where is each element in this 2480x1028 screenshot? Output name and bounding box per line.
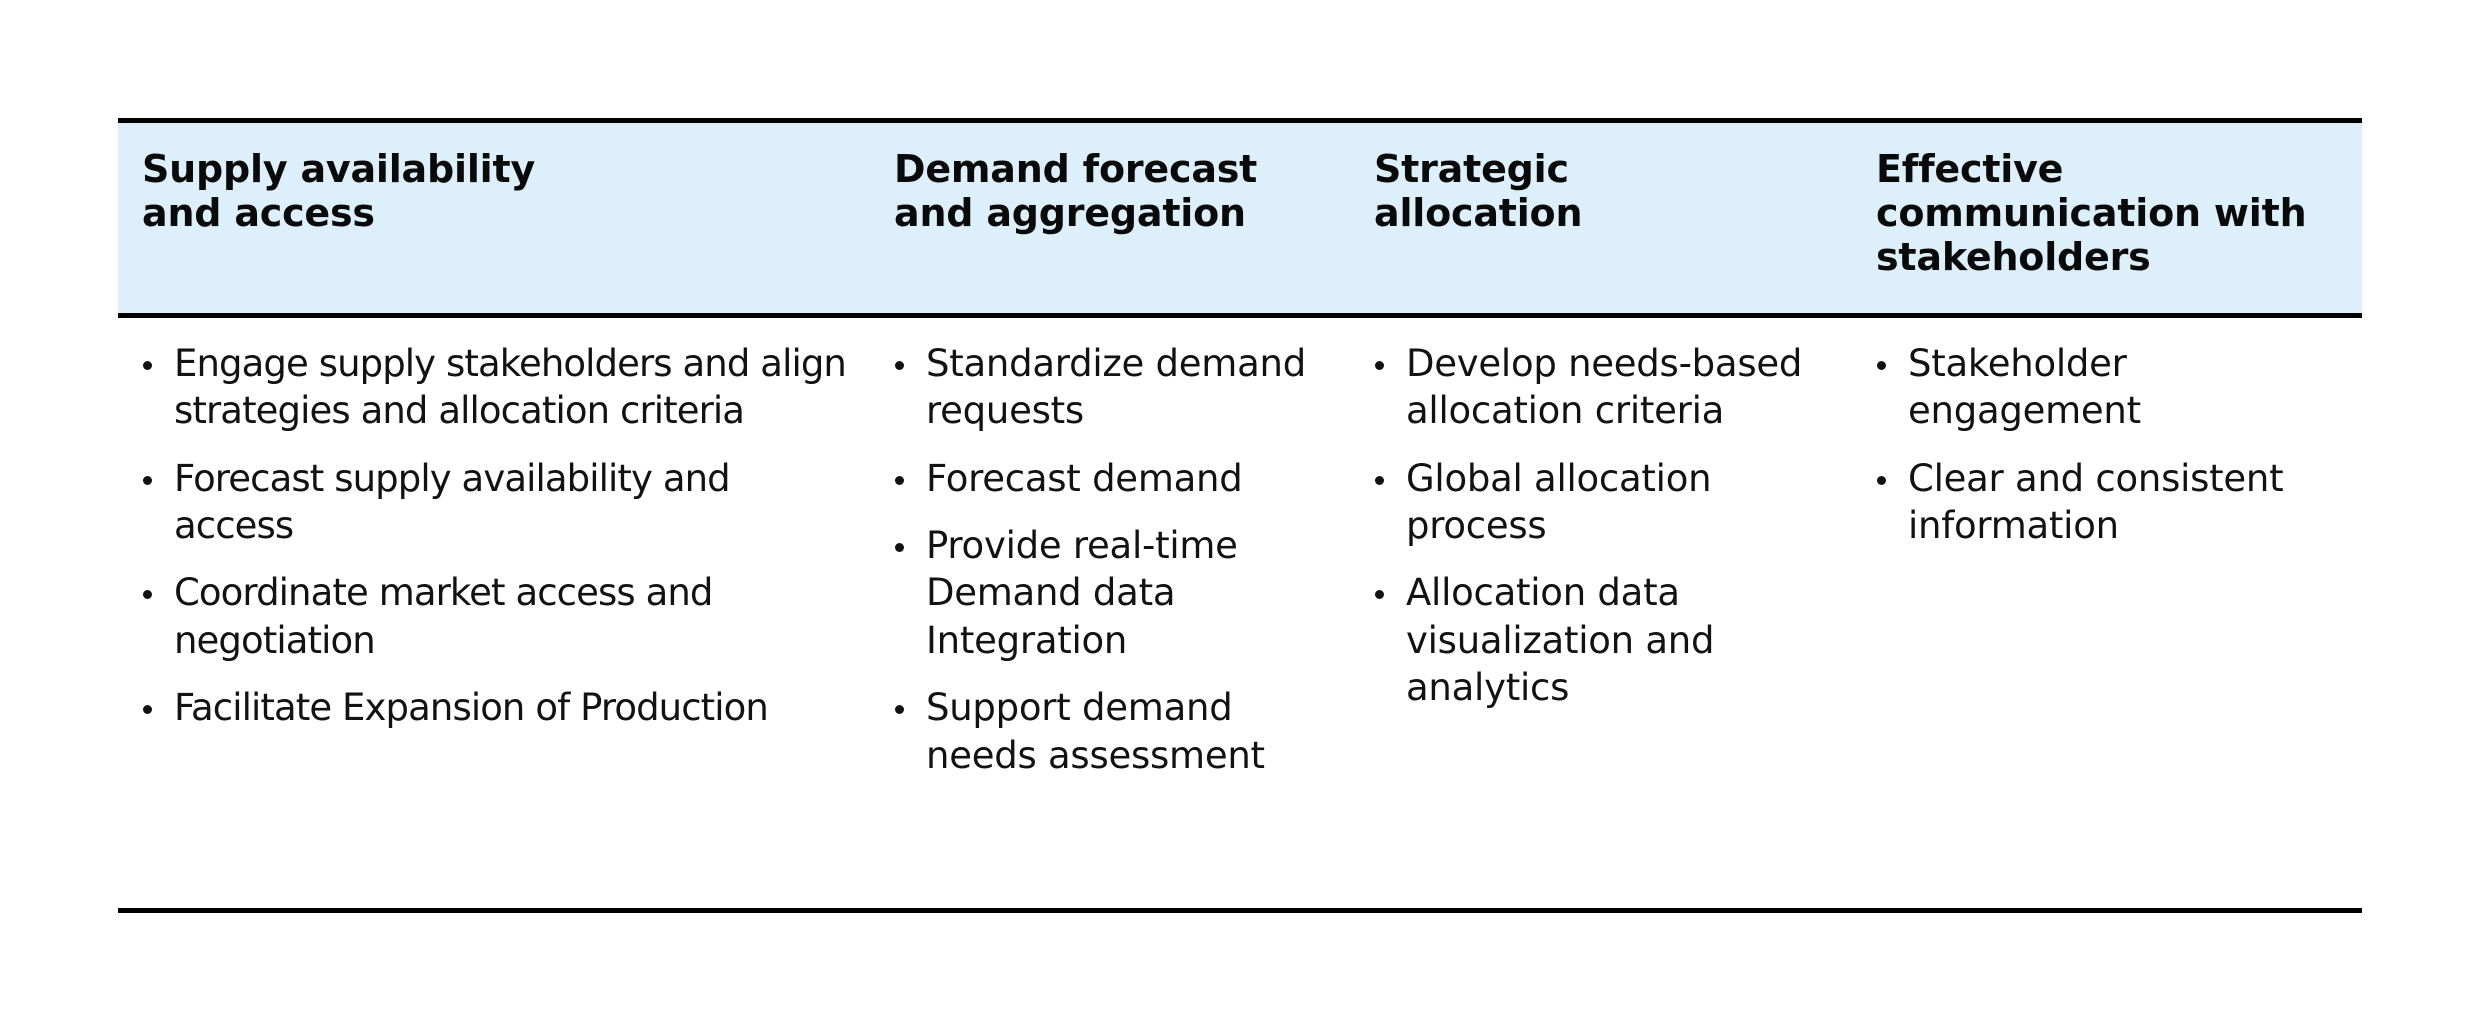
column-title-effective-communication-with-stakeholders: Effective communication with stakeholder… (1876, 147, 2336, 279)
header-cell-demand-forecast-and-aggregation: Demand forecast and aggregation (870, 147, 1350, 235)
list-item: Standardize demand requests (888, 340, 1332, 435)
list-item: Global allocation process (1368, 455, 1834, 550)
bullet-list-demand-forecast-and-aggregation: Standardize demand requests Forecast dem… (888, 340, 1332, 779)
header-cell-supply-availability-and-access: Supply availability and access (118, 147, 870, 235)
header-cell-strategic-allocation: Strategic allocation (1350, 147, 1852, 235)
list-item: Stakeholder engagement (1870, 340, 2344, 435)
table-body-row: Engage supply stakeholders and align str… (118, 318, 2362, 908)
list-item: Clear and consistent information (1870, 455, 2344, 550)
list-item: Support demand needs assessment (888, 684, 1332, 779)
body-cell-demand-forecast-and-aggregation: Standardize demand requests Forecast dem… (870, 340, 1350, 779)
bullet-list-supply-availability-and-access: Engage supply stakeholders and align str… (136, 340, 852, 732)
header-cell-effective-communication-with-stakeholders: Effective communication with stakeholder… (1852, 147, 2362, 279)
table-bottom-rule (118, 908, 2362, 913)
list-item: Facilitate Expansion of Production (136, 684, 852, 731)
body-cell-effective-communication-with-stakeholders: Stakeholder engagement Clear and consist… (1852, 340, 2362, 549)
body-cell-supply-availability-and-access: Engage supply stakeholders and align str… (118, 340, 870, 732)
list-item: Develop needs-based allocation criteria (1368, 340, 1834, 435)
column-title-strategic-allocation: Strategic allocation (1374, 147, 1826, 235)
body-cell-strategic-allocation: Develop needs-based allocation criteria … (1350, 340, 1852, 712)
list-item: Allocation data visualization and analyt… (1368, 569, 1834, 711)
list-item: Coordinate market access and negotiation (136, 569, 852, 664)
page-root: Supply availability and access Demand fo… (0, 0, 2480, 1028)
list-item: Forecast supply availability and access (136, 455, 852, 550)
bullet-list-strategic-allocation: Develop needs-based allocation criteria … (1368, 340, 1834, 712)
column-title-demand-forecast-and-aggregation: Demand forecast and aggregation (894, 147, 1324, 235)
bullet-list-effective-communication-with-stakeholders: Stakeholder engagement Clear and consist… (1870, 340, 2344, 549)
four-column-table: Supply availability and access Demand fo… (118, 118, 2362, 913)
list-item: Engage supply stakeholders and align str… (136, 340, 852, 435)
table-header-row: Supply availability and access Demand fo… (118, 123, 2362, 313)
list-item: Provide real-time Demand data Integratio… (888, 522, 1332, 664)
list-item: Forecast demand (888, 455, 1332, 502)
column-title-supply-availability-and-access: Supply availability and access (142, 147, 844, 235)
